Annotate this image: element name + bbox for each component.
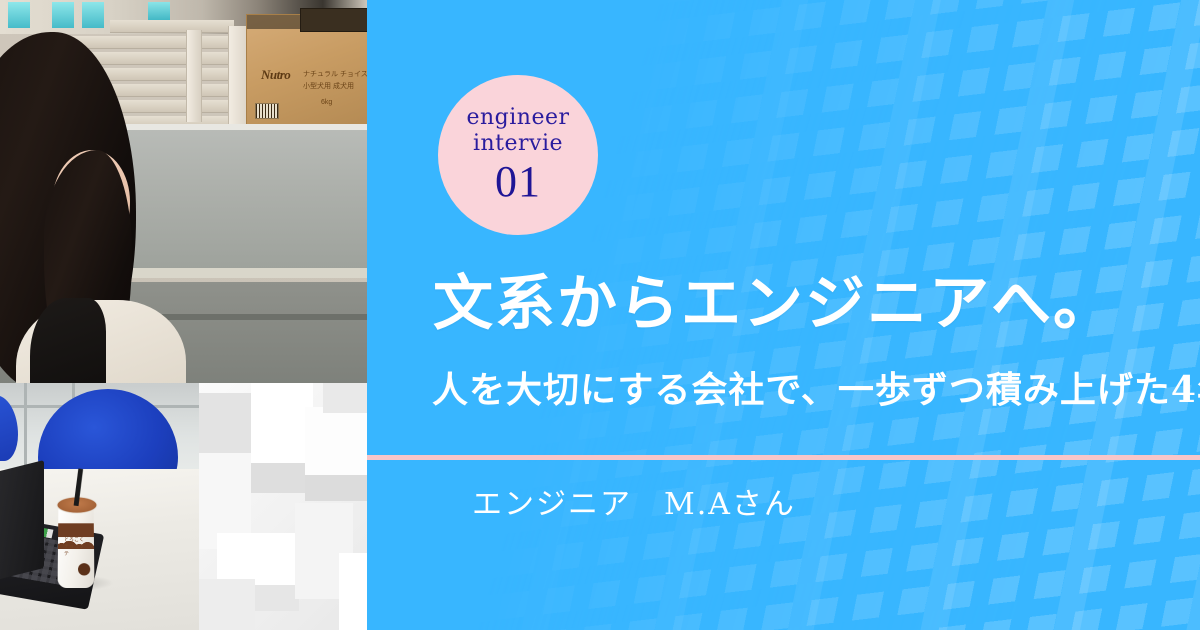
pink-divider	[367, 455, 1200, 460]
cube-block	[251, 383, 313, 463]
coffee-cup: とろこく チョコラテ	[58, 502, 95, 588]
box-weight-label: 6kg	[321, 99, 332, 106]
cube-block	[199, 579, 255, 630]
ceiling-light-icon	[82, 2, 104, 28]
interview-banner: Nutro ナチュラル チョイス シュプレモ 小型犬用 成犬用 6kg	[0, 0, 1200, 630]
box-brand-label: Nutro	[261, 67, 290, 83]
shelf-bar	[110, 20, 234, 33]
cube-block	[199, 393, 259, 453]
box-product-label: ナチュラル チョイス シュプレモ	[303, 69, 367, 79]
cube-face-top	[305, 475, 367, 501]
ceiling-light-icon	[148, 2, 170, 20]
engineer-interview-badge: engineer intervie 01	[438, 75, 598, 235]
cube-face-left	[199, 393, 259, 453]
laptop-screen	[0, 460, 44, 582]
cup-product-label: とろこく チョコラテ	[64, 537, 88, 558]
ceiling-light-icon	[52, 2, 74, 28]
byline-role-and-name: エンジニア M.Aさん	[472, 484, 796, 526]
box-size-label: 小型犬用 成犬用	[303, 81, 354, 91]
page-subtitle: 人を大切にする会社で、一歩ずつ積み上げた4年	[432, 366, 1200, 414]
barcode-icon	[255, 103, 279, 119]
rack-post	[186, 30, 202, 122]
page-title: 文系からエンジニアへ。	[433, 268, 1200, 340]
photo-column: Nutro ナチュラル チョイス シュプレモ 小型犬用 成犬用 6kg	[0, 0, 367, 630]
cube-block	[305, 407, 367, 479]
badge-number: 01	[495, 159, 541, 205]
photo-desk-laptop-coffee: とろこく チョコラテ	[0, 383, 199, 630]
cardboard-box	[300, 8, 367, 32]
photo-white-cubes	[199, 383, 367, 630]
photo-warehouse-interview: Nutro ナチュラル チョイス シュプレモ 小型犬用 成犬用 6kg	[0, 0, 367, 383]
badge-line-1: engineer	[466, 105, 569, 131]
floor-seam	[150, 314, 367, 320]
headline-block: 文系からエンジニアへ。	[433, 268, 1200, 340]
blue-content-panel: engineer intervie 01 文系からエンジニアへ。 人を大切にする…	[367, 0, 1200, 630]
badge-line-2: intervie	[473, 131, 563, 157]
photo-bottom-row: とろこく チョコラテ	[0, 383, 367, 630]
ceiling-light-icon	[8, 2, 30, 28]
cube-face-top	[251, 463, 313, 493]
cube-face-top	[323, 383, 367, 413]
cube-block	[339, 553, 367, 630]
cup-logo-icon	[78, 563, 90, 575]
